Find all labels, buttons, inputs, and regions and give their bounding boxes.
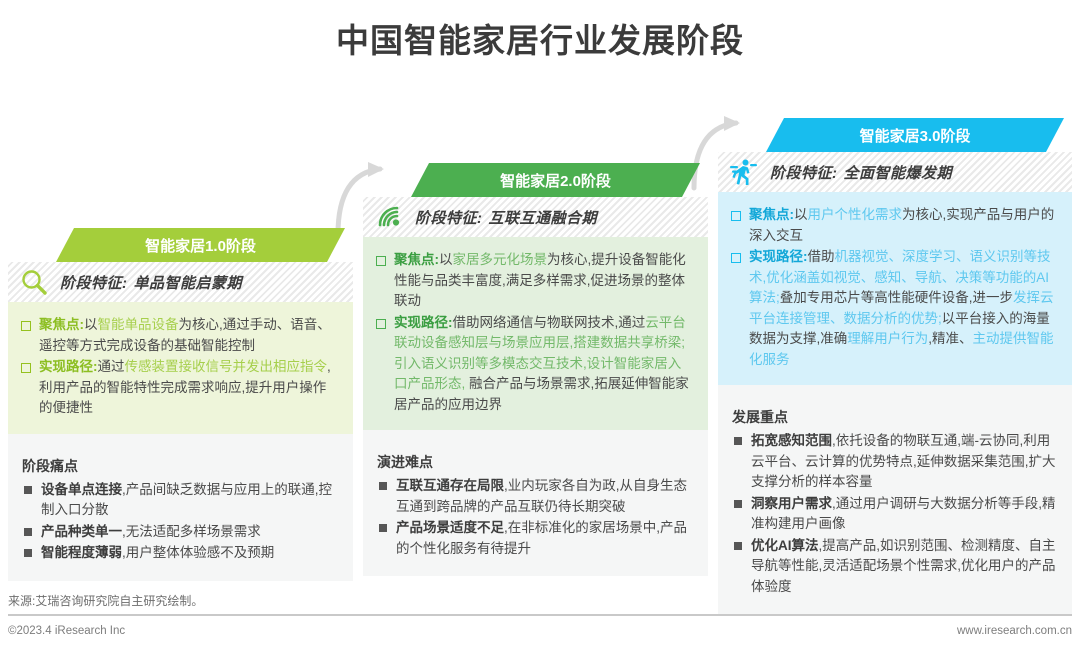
stage-points-1: 聚焦点:以智能单品设备为核心,通过手动、语音、遥控等方式完成设备的基础智能控制实… (20, 315, 339, 419)
point-text: 智能单品设备 (98, 317, 179, 332)
point-text: ,精准、 (928, 331, 972, 346)
panel-list-item: 优化AI算法,提高产品,如识别范围、检测精度、自主导航等性能,灵活适配场景个性需… (732, 536, 1058, 598)
feature-label-1: 阶段特征: (60, 275, 128, 292)
stage-feature-band-3: 阶段特征:全面智能爆发期 (718, 152, 1072, 192)
panel-item-rest: ,用户整体体验感不及预期 (122, 545, 274, 560)
panel-list-item: 洞察用户需求,通过用户调研与大数据分析等手段,精准构建用户画像 (732, 494, 1058, 535)
point-text: 叠加专用芯片等高性能硬件设备,进一步 (780, 290, 1013, 305)
stage-points-2: 聚焦点:以家居多元化场景为核心,提升设备智能化性能与品类丰富度,满足多样需求,促… (375, 250, 694, 415)
stage-column-2: 智能家居2.0阶段 阶段特征:互联互通融合期 聚焦点:以家居多元化场景为核心,提… (363, 163, 708, 576)
page-title: 中国智能家居行业发展阶段 (0, 14, 1080, 62)
point-text: 以 (794, 207, 808, 222)
point-label: 实现路径: (749, 249, 808, 264)
stage-content-box-1: 聚焦点:以智能单品设备为核心,通过手动、语音、遥控等方式完成设备的基础智能控制实… (8, 302, 353, 434)
panel-items-1: 设备单点连接,产品间缺乏数据与应用上的联通,控制入口分散产品种类单一,无法适配多… (22, 480, 339, 564)
point-label: 聚焦点: (394, 252, 439, 267)
point-text: 理解用户行为 (847, 331, 928, 346)
infographic-page: 中国智能家居行业发展阶段 智能家居1.0阶段 阶段特征:单品智能启蒙期 (0, 0, 1080, 652)
stage-column-3: 智能家居3.0阶段 阶段特征:全面智能爆发期 聚焦点:以用户个性化需求为核心 (718, 118, 1072, 614)
panel-item-bold: 互联互通存在局限 (396, 478, 504, 493)
point-text: 通过 (98, 359, 125, 374)
footer-divider (8, 614, 1072, 616)
stage-feature-text-3: 阶段特征:全面智能爆发期 (770, 162, 952, 183)
panel-item-bold: 设备单点连接 (41, 482, 122, 497)
panel-items-3: 拓宽感知范围,依托设备的物联互通,端-云协同,利用云平台、云计算的优势特点,延伸… (732, 431, 1058, 597)
stage-points-3: 聚焦点:以用户个性化需求为核心,实现产品与用户的深入交互实现路径:借助机器视觉、… (730, 205, 1058, 370)
panel-title-1: 阶段痛点 (22, 456, 339, 476)
stage-feature-band-1: 阶段特征:单品智能启蒙期 (8, 262, 353, 302)
running-person-icon (718, 157, 770, 187)
stage-content-box-3: 聚焦点:以用户个性化需求为核心,实现产品与用户的深入交互实现路径:借助机器视觉、… (718, 192, 1072, 385)
panel-item-bold: 优化AI算法 (751, 538, 819, 553)
panel-list-item: 互联互通存在局限,业内玩家各自为政,从自身生态互通到跨品牌的产品互联仍待长期突破 (377, 476, 694, 517)
stage-banner-1: 智能家居1.0阶段 (56, 228, 345, 262)
point-text: 借助网络通信与物联网技术,通过 (453, 315, 646, 330)
panel-title-3: 发展重点 (732, 407, 1058, 427)
copyright-text: ©2023.4 iResearch Inc (8, 625, 125, 637)
point-item: 聚焦点:以家居多元化场景为核心,提升设备智能化性能与品类丰富度,满足多样需求,促… (375, 250, 694, 312)
stage-panel-1: 阶段痛点 设备单点连接,产品间缺乏数据与应用上的联通,控制入口分散产品种类单一,… (8, 434, 353, 581)
point-text: 借助 (808, 249, 835, 264)
stage-column-1: 智能家居1.0阶段 阶段特征:单品智能启蒙期 聚焦点:以智能单品设备为核心,通过… (8, 228, 353, 581)
panel-item-bold: 产品种类单一 (41, 524, 122, 539)
stage-panel-3: 发展重点 拓宽感知范围,依托设备的物联互通,端-云协同,利用云平台、云计算的优势… (718, 385, 1072, 614)
magnifier-icon (8, 268, 60, 296)
stage-feature-text-2: 阶段特征:互联互通融合期 (415, 207, 597, 228)
panel-item-bold: 产品场景适度不足 (396, 520, 504, 535)
feature-value-1: 单品智能启蒙期 (134, 275, 243, 292)
point-label: 聚焦点: (39, 317, 84, 332)
point-text: 用户个性化需求 (808, 207, 903, 222)
point-label: 实现路径: (394, 315, 453, 330)
point-item: 实现路径:通过传感装置接收信号并发出相应指令,利用产品的智能特性完成需求响应,提… (20, 357, 339, 419)
feature-label-3: 阶段特征: (770, 165, 838, 182)
panel-list-item: 产品种类单一,无法适配多样场景需求 (22, 522, 339, 543)
stage-banner-3: 智能家居3.0阶段 (766, 118, 1064, 152)
point-label: 实现路径: (39, 359, 98, 374)
stage-content-box-2: 聚焦点:以家居多元化场景为核心,提升设备智能化性能与品类丰富度,满足多样需求,促… (363, 237, 708, 430)
stage-feature-text-1: 阶段特征:单品智能启蒙期 (60, 272, 242, 293)
panel-item-bold: 洞察用户需求 (751, 496, 832, 511)
point-text: 家居多元化场景 (453, 252, 548, 267)
stage-banner-2: 智能家居2.0阶段 (411, 163, 700, 197)
panel-list-item: 智能程度薄弱,用户整体体验感不及预期 (22, 543, 339, 564)
point-item: 实现路径:借助网络通信与物联网技术,通过云平台联动设备感知层与场景应用层,搭建数… (375, 313, 694, 416)
panel-item-rest: ,无法适配多样场景需求 (122, 524, 261, 539)
panel-list-item: 设备单点连接,产品间缺乏数据与应用上的联通,控制入口分散 (22, 480, 339, 521)
feature-label-2: 阶段特征: (415, 210, 483, 227)
panel-item-bold: 拓宽感知范围 (751, 433, 832, 448)
source-note: 来源:艾瑞咨询研究院自主研究绘制。 (8, 592, 203, 609)
point-text: 以 (84, 317, 98, 332)
point-item: 聚焦点:以智能单品设备为核心,通过手动、语音、遥控等方式完成设备的基础智能控制 (20, 315, 339, 356)
point-label: 聚焦点: (749, 207, 794, 222)
panel-list-item: 拓宽感知范围,依托设备的物联互通,端-云协同,利用云平台、云计算的优势特点,延伸… (732, 431, 1058, 493)
panel-item-bold: 智能程度薄弱 (41, 545, 122, 560)
panel-title-2: 演进难点 (377, 452, 694, 472)
panel-list-item: 产品场景适度不足,在非标准化的家居场景中,产品的个性化服务有待提升 (377, 518, 694, 559)
panel-items-2: 互联互通存在局限,业内玩家各自为政,从自身生态互通到跨品牌的产品互联仍待长期突破… (377, 476, 694, 559)
point-text: 以 (439, 252, 453, 267)
point-text: 传感装置接收信号并发出相应指令 (125, 359, 328, 374)
website-link[interactable]: www.iresearch.com.cn (957, 625, 1072, 637)
stage-panel-2: 演进难点 互联互通存在局限,业内玩家各自为政,从自身生态互通到跨品牌的产品互联仍… (363, 430, 708, 576)
feature-value-3: 全面智能爆发期 (844, 165, 953, 182)
feature-value-2: 互联互通融合期 (489, 210, 598, 227)
stage-feature-band-2: 阶段特征:互联互通融合期 (363, 197, 708, 237)
point-item: 实现路径:借助机器视觉、深度学习、语义识别等技术,优化涵盖如视觉、感知、导航、决… (730, 247, 1058, 370)
point-item: 聚焦点:以用户个性化需求为核心,实现产品与用户的深入交互 (730, 205, 1058, 246)
wifi-icon (363, 203, 415, 231)
